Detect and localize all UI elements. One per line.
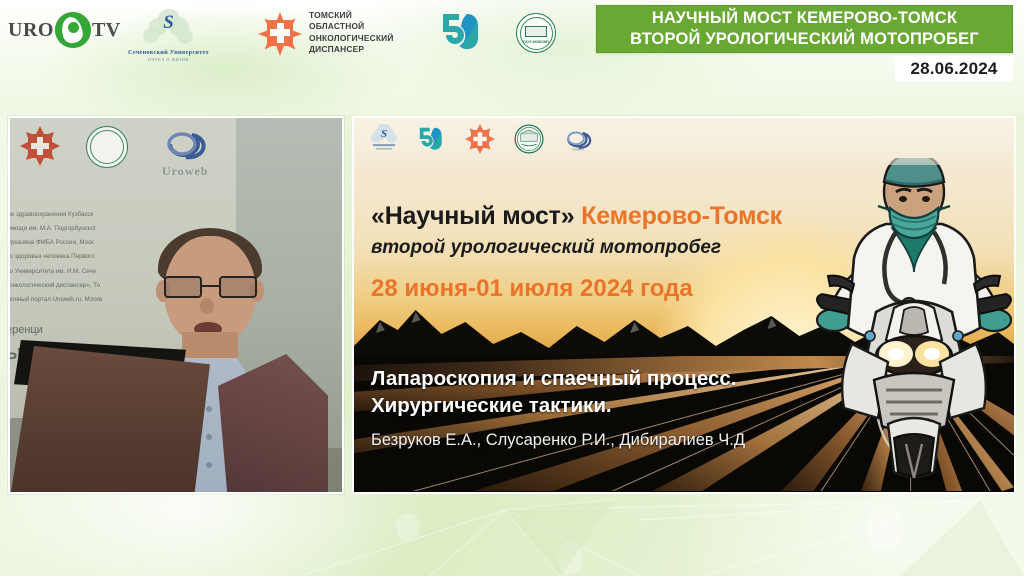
slide-title-accent: Кемерово-Томск [581, 202, 782, 230]
slide-title-quoted: «Научный мост» [371, 202, 574, 230]
seal-label: ГАУЗ КККБСМП [517, 40, 555, 44]
slide-subtitle: второй урологический мотопробег [371, 237, 721, 259]
backdrop-cross-icon [20, 126, 60, 166]
backdrop-seal-icon [86, 126, 128, 168]
fifty-heart-icon [437, 10, 485, 54]
backdrop-text-line: ние здравоохранения Кузбасск [8, 208, 164, 222]
sechenov-university-logo: S Сеченовский Университет НАУКА О ЖИЗНИ [128, 8, 209, 62]
speaker-nose [200, 298, 214, 314]
banner-line-2: ВТОРОЙ УРОЛОГИЧЕСКИЙ МОТОПРОБЕГ [630, 29, 979, 50]
doctor-motorcyclist-illustration [808, 158, 1016, 494]
sechenov-tagline: НАУКА О ЖИЗНИ [148, 57, 189, 62]
slide-tomsk-logo [465, 124, 495, 159]
tomsk-line-3: ОНКОЛОГИЧЕСКИЙ [309, 33, 394, 44]
urotv-logo: URO TV [8, 12, 121, 48]
tomsk-oncology-logo: ТОМСКИЙ ОБЛАСТНОЙ ОНКОЛОГИЧЕСКИЙ ДИСПАНС… [258, 10, 394, 56]
seal-icon: ГАУЗ КККБСМП [516, 13, 556, 53]
urotv-right-text: TV [92, 19, 121, 42]
sechenov-tree-icon: S [141, 8, 197, 48]
slide-sechenov-logo: S [371, 124, 397, 159]
slide-dates: 28 июня-01 июля 2024 года [371, 275, 693, 303]
slide-seal-logo [514, 124, 544, 159]
seal-building-icon [525, 26, 547, 37]
tomsk-oncology-name: ТОМСКИЙ ОБЛАСТНОЙ ОНКОЛОГИЧЕСКИЙ ДИСПАНС… [309, 10, 394, 56]
slide-topic: Лапароскопия и спаечный процесс. Хирурги… [371, 365, 737, 420]
slide-uroweb-logo: Uroweb [563, 125, 593, 158]
slide-authors: Безруков Е.А., Слусаренко Р.И., Дибирали… [371, 431, 745, 450]
slide-title: «Научный мост» Кемерово-Томск [371, 202, 782, 231]
backdrop-uroweb-icon [162, 124, 208, 164]
banner-line-1: НАУЧНЫЙ МОСТ КЕМЕРОВО-ТОМСК [652, 8, 957, 29]
urotv-leaf-icon [55, 12, 91, 48]
tomsk-line-1: ТОМСКИЙ [309, 10, 394, 21]
tomsk-line-2: ОБЛАСТНОЙ [309, 21, 394, 32]
svg-text:S: S [381, 128, 387, 140]
slide-fifty-logo [416, 125, 446, 158]
event-title-banner: НАУЧНЫЙ МОСТ КЕМЕРОВО-ТОМСК ВТОРОЙ УРОЛО… [596, 5, 1013, 53]
slide-logo-strip: S [354, 118, 1014, 165]
speaker-glasses [162, 276, 260, 298]
tomsk-sunburst-cross-icon [258, 11, 302, 55]
urotv-left-text: URO [8, 19, 54, 42]
date-badge: 28.06.2024 [895, 56, 1013, 82]
svg-text:Uroweb: Uroweb [572, 148, 583, 152]
slide-topic-line-2: Хирургические тактики. [371, 392, 737, 419]
slide-topic-line-1: Лапароскопия и спаечный процесс. [371, 365, 737, 392]
sechenov-monogram: S [163, 12, 174, 34]
podium [10, 346, 210, 494]
sechenov-name: Сеченовский Университет [128, 49, 209, 56]
speaker-video-panel[interactable]: Uroweb ние здравоохранения Кузбасск помо… [8, 116, 344, 494]
hospital-seal-logo: ГАУЗ КККБСМП [516, 13, 556, 53]
fifty-anniversary-logo [437, 10, 485, 54]
presentation-slide[interactable]: S [352, 116, 1016, 494]
backdrop-uroweb-wordmark: Uroweb [162, 164, 208, 179]
tomsk-line-4: ДИСПАНСЕР [309, 44, 394, 55]
